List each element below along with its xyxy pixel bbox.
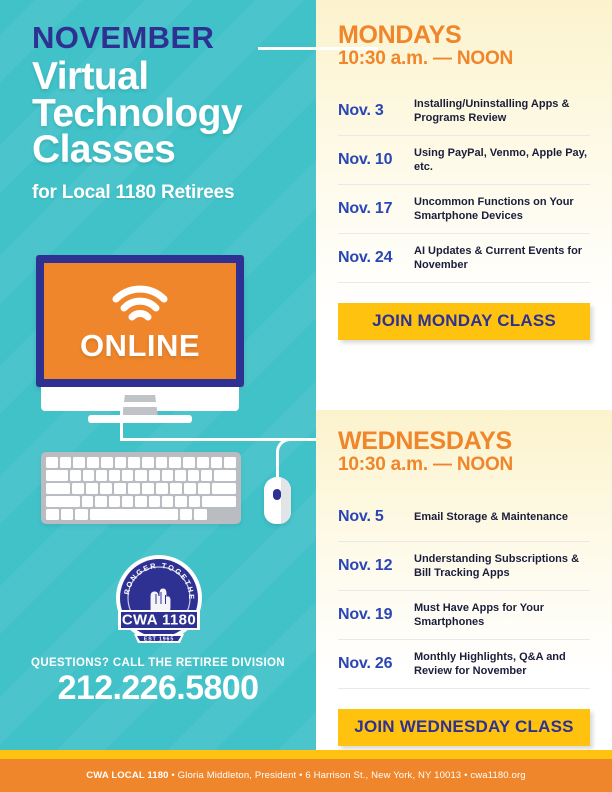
contact-block: QUESTIONS? CALL THE RETIREE DIVISION 212… bbox=[0, 657, 316, 705]
table-row: Nov. 10 Using PayPal, Venmo, Apple Pay, … bbox=[338, 136, 590, 185]
monitor-cable-horizontal bbox=[120, 438, 300, 441]
class-date: Nov. 3 bbox=[338, 102, 414, 120]
monitor-bezel: ONLINE bbox=[36, 255, 244, 387]
table-row: Nov. 3 Installing/Uninstalling Apps & Pr… bbox=[338, 87, 590, 136]
class-description: AI Updates & Current Events for November bbox=[414, 244, 590, 272]
class-date: Nov. 24 bbox=[338, 249, 414, 267]
subtitle: for Local 1180 Retirees bbox=[32, 182, 302, 204]
left-branding-panel: NOVEMBER Virtual Technology Classes for … bbox=[0, 0, 316, 750]
title-line-1: Virtual bbox=[32, 59, 302, 96]
table-row: Nov. 5 Email Storage & Maintenance bbox=[338, 493, 590, 542]
keyboard-icon bbox=[41, 452, 241, 524]
monitor-screen: ONLINE bbox=[44, 263, 236, 379]
monday-day-heading: MONDAYS bbox=[338, 22, 590, 48]
table-row: Nov. 24 AI Updates & Current Events for … bbox=[338, 234, 590, 283]
title-line-2: Technology bbox=[32, 96, 302, 133]
class-date: Nov. 19 bbox=[338, 606, 414, 624]
poster-canvas: NOVEMBER Virtual Technology Classes for … bbox=[0, 0, 612, 792]
class-date: Nov. 10 bbox=[338, 151, 414, 169]
monitor-cable-vertical bbox=[120, 404, 123, 441]
mouse-scroll-wheel bbox=[273, 489, 281, 500]
computer-mouse-icon bbox=[264, 477, 291, 524]
monitor-base bbox=[88, 415, 192, 423]
monday-rows: Nov. 3 Installing/Uninstalling Apps & Pr… bbox=[338, 87, 590, 283]
footer-text: CWA LOCAL 1180 • Gloria Middleton, Presi… bbox=[86, 770, 525, 781]
svg-text:CWA 1180: CWA 1180 bbox=[122, 612, 196, 629]
cwa-1180-logo: STRONGER TOGETHER CWA 1180 EST 1965 bbox=[106, 550, 212, 656]
phone-number[interactable]: 212.226.5800 bbox=[0, 671, 316, 705]
table-row: Nov. 26 Monthly Highlights, Q&A and Revi… bbox=[338, 640, 590, 689]
wednesday-rows: Nov. 5 Email Storage & Maintenance Nov. … bbox=[338, 493, 590, 689]
class-description: Email Storage & Maintenance bbox=[414, 510, 590, 524]
table-row: Nov. 17 Uncommon Functions on Your Smart… bbox=[338, 185, 590, 234]
class-description: Understanding Subscriptions & Bill Track… bbox=[414, 552, 590, 580]
header-divider-rule bbox=[258, 47, 378, 50]
title-line-3: Classes bbox=[32, 132, 302, 169]
table-row: Nov. 19 Must Have Apps for Your Smartpho… bbox=[338, 591, 590, 640]
footer-details: • Gloria Middleton, President • 6 Harris… bbox=[169, 770, 526, 781]
class-date: Nov. 5 bbox=[338, 508, 414, 526]
schedule-column: MONDAYS 10:30 a.m. — NOON Nov. 3 Install… bbox=[316, 0, 612, 750]
class-description: Installing/Uninstalling Apps & Programs … bbox=[414, 97, 590, 125]
footer-accent-strip bbox=[0, 750, 612, 759]
class-date: Nov. 26 bbox=[338, 655, 414, 673]
wednesday-schedule-section: WEDNESDAYS 10:30 a.m. — NOON Nov. 5 Emai… bbox=[316, 410, 612, 750]
wednesday-time: 10:30 a.m. — NOON bbox=[338, 454, 590, 477]
monitor-cable-joint bbox=[120, 402, 165, 407]
class-description: Using PayPal, Venmo, Apple Pay, etc. bbox=[414, 146, 590, 174]
class-date: Nov. 17 bbox=[338, 200, 414, 218]
wifi-icon bbox=[111, 282, 169, 327]
monday-schedule-section: MONDAYS 10:30 a.m. — NOON Nov. 3 Install… bbox=[316, 0, 612, 404]
class-date: Nov. 12 bbox=[338, 557, 414, 575]
wednesday-day-heading: WEDNESDAYS bbox=[338, 428, 590, 454]
class-description: Uncommon Functions on Your Smartphone De… bbox=[414, 195, 590, 223]
svg-text:EST 1965: EST 1965 bbox=[144, 637, 174, 643]
contact-label: QUESTIONS? CALL THE RETIREE DIVISION bbox=[0, 657, 316, 669]
screen-label: ONLINE bbox=[80, 330, 200, 361]
mouse-cable bbox=[276, 438, 316, 480]
join-monday-class-button[interactable]: JOIN MONDAY CLASS bbox=[338, 303, 590, 340]
join-wednesday-class-button[interactable]: JOIN WEDNESDAY CLASS bbox=[338, 709, 590, 746]
class-description: Monthly Highlights, Q&A and Review for N… bbox=[414, 650, 590, 678]
table-row: Nov. 12 Understanding Subscriptions & Bi… bbox=[338, 542, 590, 591]
footer-org: CWA LOCAL 1180 bbox=[86, 770, 168, 781]
class-description: Must Have Apps for Your Smartphones bbox=[414, 601, 590, 629]
desktop-monitor-icon: ONLINE bbox=[36, 255, 244, 387]
footer-bar: CWA LOCAL 1180 • Gloria Middleton, Presi… bbox=[0, 759, 612, 792]
monday-time: 10:30 a.m. — NOON bbox=[338, 48, 590, 71]
